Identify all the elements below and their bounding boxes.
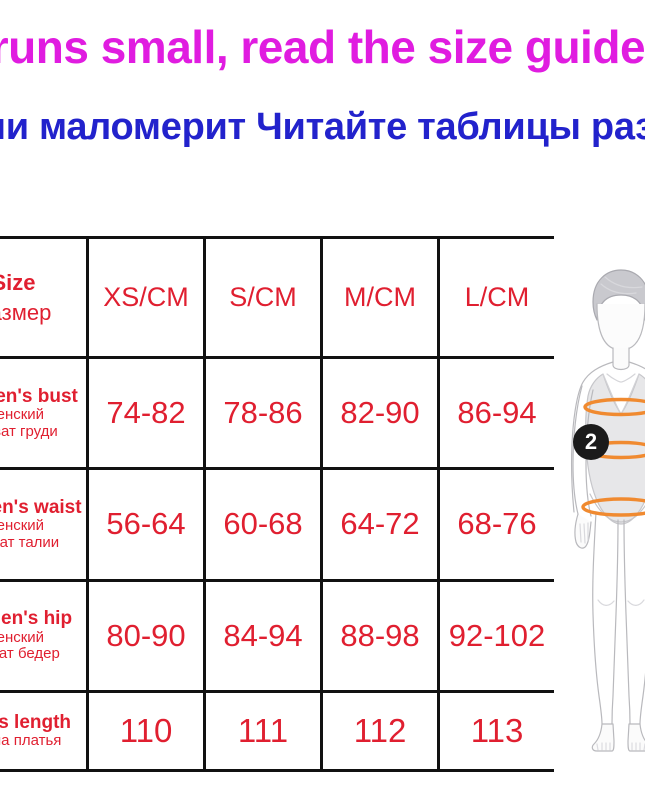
cell-waist-l: 68-76 <box>439 469 555 580</box>
cell-bust-xs: 74-82 <box>88 358 205 469</box>
cell-length-l: 113 <box>439 691 555 770</box>
size-table-container: Size Размер XS/CM S/CM M/CM L/CM Women's… <box>0 236 554 773</box>
cell-length-xs: 110 <box>88 691 205 770</box>
cell-hip-m: 88-98 <box>322 580 439 691</box>
corner-label-ru: Размер <box>0 298 82 328</box>
table-row: Women's hip Женский обхват бедер 80-90 8… <box>0 580 554 691</box>
table-row: Women's bust Женский обхват груди 74-82 … <box>0 358 554 469</box>
column-header-l: L/CM <box>439 238 555 358</box>
row-label-hip-ru1: Женский <box>0 630 82 647</box>
cell-bust-l: 86-94 <box>439 358 555 469</box>
table-row: Dress length Длина платья 110 111 112 11… <box>0 691 554 770</box>
row-label-dress-length: Dress length Длина платья <box>0 691 88 770</box>
row-label-bust-en: Women's bust <box>0 386 82 407</box>
size-chart-table: Size Размер XS/CM S/CM M/CM L/CM Women's… <box>0 236 554 772</box>
row-label-length-ru1: Длина платья <box>0 733 82 750</box>
cell-waist-xs: 56-64 <box>88 469 205 580</box>
row-label-hip-en: Women's hip <box>0 608 82 629</box>
table-header-row: Size Размер XS/CM S/CM M/CM L/CM <box>0 238 554 358</box>
cell-length-s: 111 <box>205 691 322 770</box>
row-label-waist-ru2: обхват талии <box>0 535 82 552</box>
table-row: Women's waist Женский обхват талии 56-64… <box>0 469 554 580</box>
row-label-bust-ru2: обхват груди <box>0 424 82 441</box>
heading-english: If it runs small, read the size guide <box>0 24 645 70</box>
cell-hip-s: 84-94 <box>205 580 322 691</box>
mannequin-illustration <box>560 262 645 767</box>
row-label-hip: Women's hip Женский обхват бедер <box>0 580 88 691</box>
headings-block: If it runs small, read the size guide Ес… <box>0 0 645 200</box>
row-label-hip-ru2: обхват бедер <box>0 646 82 663</box>
cell-hip-xs: 80-90 <box>88 580 205 691</box>
cell-waist-s: 60-68 <box>205 469 322 580</box>
table-corner-cell: Size Размер <box>0 238 88 358</box>
cell-bust-m: 82-90 <box>322 358 439 469</box>
row-label-waist-ru1: Женский <box>0 518 82 535</box>
cell-length-m: 112 <box>322 691 439 770</box>
heading-russian: Если маломерит Читайте таблицы размеров <box>0 108 645 146</box>
row-label-bust: Women's bust Женский обхват груди <box>0 358 88 469</box>
column-header-s: S/CM <box>205 238 322 358</box>
cell-waist-m: 64-72 <box>322 469 439 580</box>
row-label-waist-en: Women's waist <box>0 497 82 518</box>
row-label-waist: Women's waist Женский обхват талии <box>0 469 88 580</box>
column-header-xs: XS/CM <box>88 238 205 358</box>
cell-bust-s: 78-86 <box>205 358 322 469</box>
row-label-length-en: Dress length <box>0 712 82 733</box>
step-badge-2: 2 <box>573 424 609 460</box>
column-header-m: M/CM <box>322 238 439 358</box>
cell-hip-l: 92-102 <box>439 580 555 691</box>
corner-label-en: Size <box>0 268 82 298</box>
row-label-bust-ru1: Женский <box>0 407 82 424</box>
